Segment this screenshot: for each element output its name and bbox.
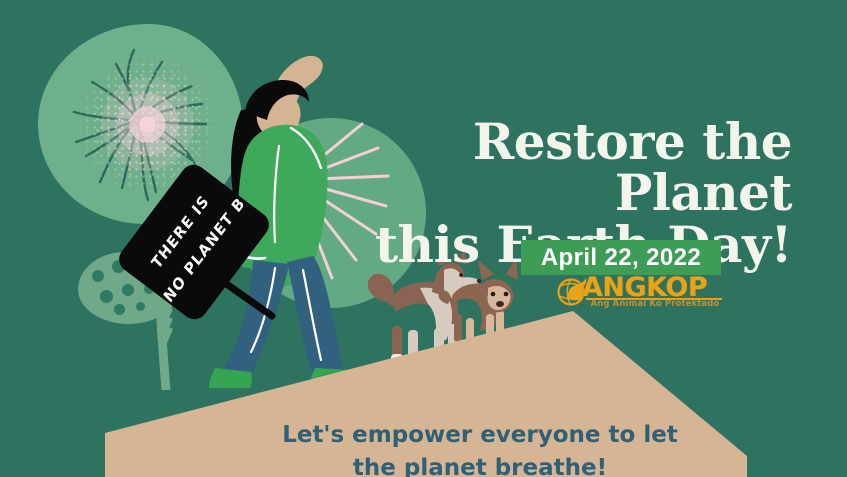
angkop-tagline: Ang Animal Ko Protektado (588, 299, 722, 309)
protest-sign: THERE IS NO PLANET B (120, 168, 310, 348)
event-date-badge: April 22, 2022 (521, 240, 721, 275)
headline-line-1: Restore the Planet (322, 116, 792, 219)
earth-day-poster: THERE IS NO PLANET B (0, 0, 847, 477)
tagline-line-1: Let's empower everyone to let (250, 419, 710, 452)
angkop-logo: ANGKOP Ang Animal Ko Protektado (556, 274, 722, 310)
event-date-text: April 22, 2022 (541, 244, 701, 272)
tagline-line-2: the planet breathe! (250, 452, 710, 477)
poster-tagline: Let's empower everyone to let the planet… (250, 419, 710, 477)
